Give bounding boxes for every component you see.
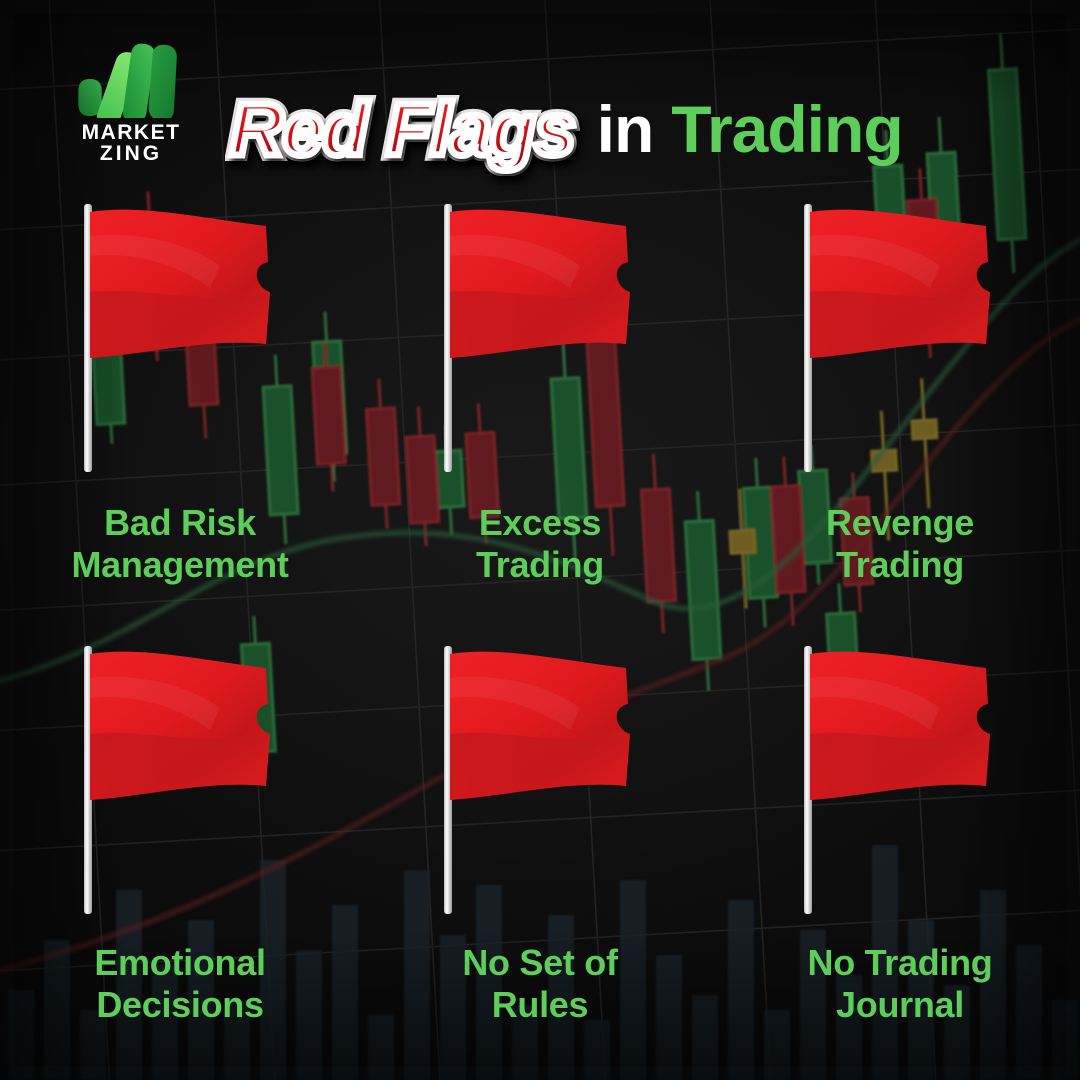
- title-red-flags-fill: Red Flags: [230, 88, 575, 171]
- red-flag-icon: [70, 196, 290, 476]
- flag-card-emotional-decisions: Emotional Decisions: [0, 638, 360, 1080]
- flag-caption: Emotional Decisions: [94, 942, 265, 1026]
- flag-caption: No Trading Journal: [808, 942, 993, 1026]
- flag-caption-line1: Emotional: [94, 942, 265, 984]
- flag-caption: Bad Risk Management: [71, 502, 288, 586]
- flag-card-no-set-of-rules: No Set of Rules: [360, 638, 720, 1080]
- title-trading: Trading: [671, 91, 902, 167]
- title-in: in: [597, 91, 654, 167]
- brand-name-line2: ZING: [46, 143, 216, 164]
- flag-caption-line1: No Trading: [808, 942, 993, 984]
- flag-caption-line1: No Set of: [462, 942, 617, 984]
- flag-caption-line1: Excess: [476, 502, 604, 544]
- flag-caption-line2: Journal: [808, 984, 993, 1026]
- red-flag-icon: [70, 638, 290, 918]
- title-red-flags: Red Flags Red Flags: [230, 87, 575, 172]
- poster-canvas: MARKET ZING Red Flags Red Flags in Tradi…: [0, 0, 1080, 1080]
- flag-caption: No Set of Rules: [462, 942, 617, 1026]
- flag-caption-line2: Rules: [462, 984, 617, 1026]
- flag-caption-line2: Decisions: [94, 984, 265, 1026]
- flag-caption: Revenge Trading: [826, 502, 974, 586]
- flag-caption: Excess Trading: [476, 502, 604, 586]
- flag-caption-line2: Trading: [476, 544, 604, 586]
- red-flag-icon: [790, 196, 1010, 476]
- brand-logo: MARKET ZING: [46, 40, 216, 170]
- brand-wordmark: MARKET ZING: [46, 122, 216, 165]
- flag-caption-line2: Management: [71, 544, 288, 586]
- flag-card-excess-trading: Excess Trading: [360, 196, 720, 638]
- flag-card-bad-risk-management: Bad Risk Management: [0, 196, 360, 638]
- red-flag-icon: [790, 638, 1010, 918]
- flag-card-revenge-trading: Revenge Trading: [720, 196, 1080, 638]
- red-flag-icon: [430, 196, 650, 476]
- flag-caption-line1: Bad Risk: [71, 502, 288, 544]
- page-title: Red Flags Red Flags in Trading: [230, 74, 970, 184]
- flag-caption-line2: Trading: [826, 544, 974, 586]
- red-flag-icon: [430, 638, 650, 918]
- brand-name-line1: MARKET: [46, 122, 216, 143]
- flag-caption-line1: Revenge: [826, 502, 974, 544]
- flag-card-no-trading-journal: No Trading Journal: [720, 638, 1080, 1080]
- marketzing-m-logo-icon: [72, 40, 190, 118]
- red-flags-grid: Bad Risk Management Excess Trading: [0, 196, 1080, 1080]
